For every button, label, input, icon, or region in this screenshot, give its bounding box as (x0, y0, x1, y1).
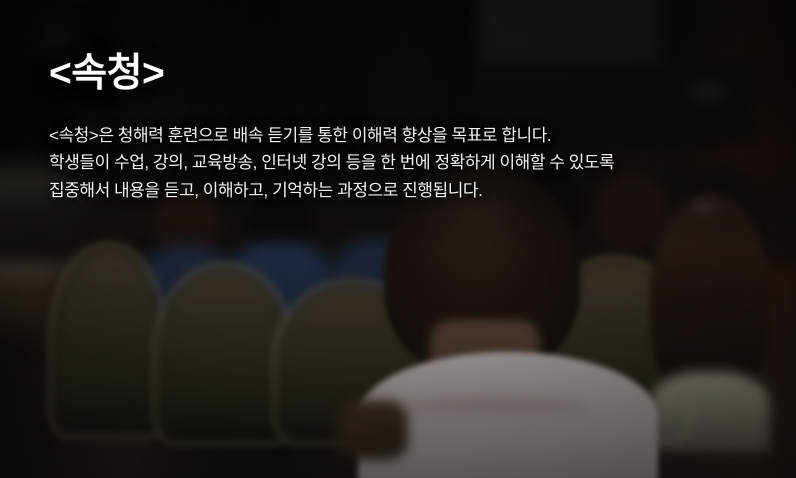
banner-title: <속청> (49, 52, 772, 97)
description-line-3: 집중해서 내용을 듣고, 이해하고, 기억하는 과정으로 진행됩니다. (49, 177, 772, 205)
banner-description: <속청>은 청해력 훈련으로 배속 듣기를 통한 이해력 향상을 목표로 합니다… (49, 122, 772, 205)
promo-banner: <속청> <속청>은 청해력 훈련으로 배속 듣기를 통한 이해력 향상을 목표… (0, 0, 796, 478)
description-line-2: 학생들이 수업, 강의, 교육방송, 인터넷 강의 등을 한 번에 정확하게 이… (49, 149, 772, 177)
description-line-1: <속청>은 청해력 훈련으로 배속 듣기를 통한 이해력 향상을 목표로 합니다… (49, 122, 772, 150)
banner-copy: <속청> <속청>은 청해력 훈련으로 배속 듣기를 통한 이해력 향상을 목표… (49, 52, 772, 204)
